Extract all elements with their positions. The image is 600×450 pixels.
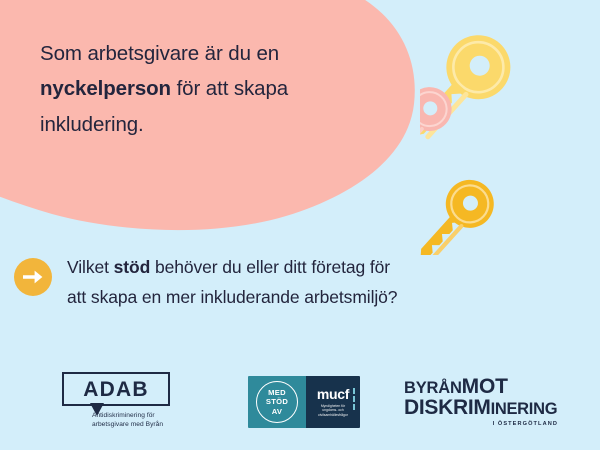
adab-tagline-line-2: arbetsgivare med Byrån — [92, 421, 163, 428]
byran-line-1: BYRÅNMOT — [404, 376, 564, 397]
question-text: Vilket stöd behöver du eller ditt företa… — [67, 252, 397, 312]
headline-line-3: inkludering. — [40, 113, 144, 136]
headline-line-1: Som arbetsgivare är du en — [40, 42, 279, 65]
adab-bubble-tail-icon — [90, 403, 104, 416]
adab-wordmark: ADAB — [83, 379, 148, 400]
mucf-badge-line-1: MED — [268, 388, 286, 397]
mucf-subtitle: Myndigheten för ungdoms- och civilsamhäl… — [313, 404, 353, 417]
question-line-2: att skapa en mer inkluderande arbetsmilj… — [67, 287, 397, 307]
headline-bold-word: nyckelperson — [40, 77, 171, 100]
question-block: Vilket stöd behöver du eller ditt företa… — [14, 252, 574, 312]
mucf-badge-circle-icon: MED STÖD AV — [256, 381, 298, 423]
adab-speech-bubble-icon: ADAB — [62, 372, 170, 406]
poster-canvas: Som arbetsgivare är du en nyckelperson f… — [0, 0, 600, 450]
question-part-1: Vilket — [67, 257, 114, 277]
logo-mucf: MED STÖD AV mucf Myndigheten för ungdoms… — [248, 376, 360, 428]
headline-line-2-rest: för att skapa — [171, 77, 288, 100]
mucf-bars-icon — [353, 388, 355, 410]
byran-line-2: DISKRIMINERING — [404, 397, 564, 419]
mucf-badge-line-3: AV — [272, 407, 283, 416]
byran-region-line: I ÖSTERGÖTLAND — [404, 421, 564, 427]
byran-word-mot: MOT — [462, 375, 508, 398]
arrow-right-icon — [14, 258, 52, 296]
logo-byran-mot-diskriminering: BYRÅNMOT DISKRIMINERING I ÖSTERGÖTLAND — [404, 376, 564, 427]
byran-word-diskrim: DISKRIM — [404, 396, 491, 419]
byran-word-byran: BYRÅN — [404, 379, 462, 397]
adab-tagline: Antidiskriminering för arbetsgivare med … — [92, 412, 232, 430]
question-bold-word: stöd — [114, 257, 151, 277]
logo-adab: ADAB Antidiskriminering för arbetsgivare… — [62, 372, 232, 430]
question-part-2: behöver du eller ditt företag för — [150, 257, 390, 277]
logo-strip: ADAB Antidiskriminering för arbetsgivare… — [0, 368, 600, 438]
mucf-support-badge: MED STÖD AV — [248, 376, 306, 428]
byran-word-inering: INERING — [491, 400, 558, 418]
keys-illustration — [420, 10, 600, 255]
headline-text: Som arbetsgivare är du en nyckelperson f… — [40, 36, 390, 142]
mucf-badge-line-2: STÖD — [266, 397, 288, 406]
key-small-gold — [420, 170, 504, 255]
mucf-wordmark: mucf — [317, 387, 349, 401]
mucf-wordmark-panel: mucf Myndigheten för ungdoms- och civils… — [306, 376, 360, 428]
